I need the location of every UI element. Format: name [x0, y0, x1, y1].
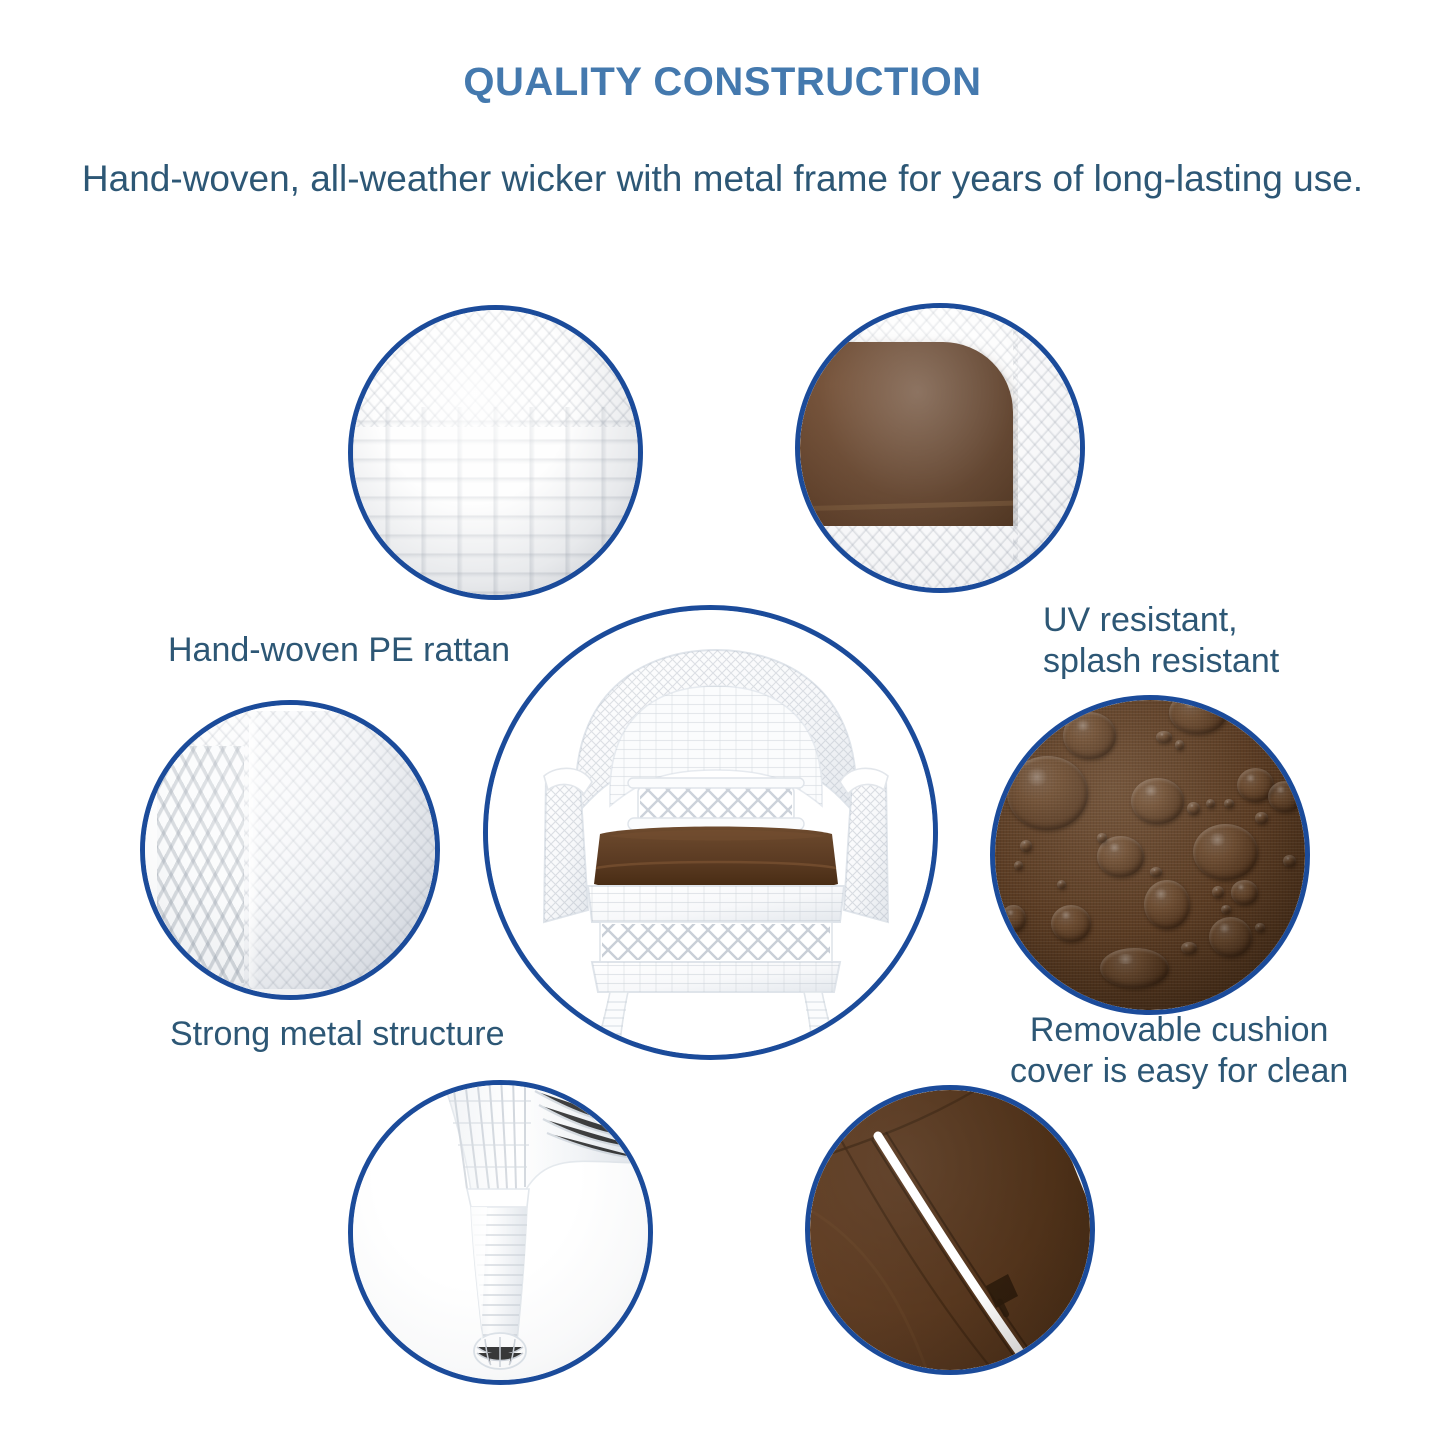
infographic-canvas: QUALITY CONSTRUCTION Hand-woven, all-wea… — [0, 0, 1445, 1445]
bubble-brown-cushion-corner — [795, 303, 1085, 593]
bubble-chair-leg — [348, 1080, 653, 1385]
brown-cushion-image — [800, 308, 1080, 588]
caption-uv-splash-resistant: UV resistant, splash resistant — [1043, 600, 1279, 683]
bubble-wicker-weave-closeup — [348, 305, 643, 600]
bubble-cushion-zipper — [805, 1085, 1095, 1375]
caption-removable-cushion-cover: Removable cushion cover is easy for clea… — [1010, 1010, 1348, 1093]
wicker-chair-illustration — [488, 610, 933, 1055]
water-droplets-image — [995, 700, 1305, 1010]
bubble-full-chair — [483, 605, 938, 1060]
chair-leg-image — [353, 1085, 648, 1380]
caption-hand-woven-pe-rattan: Hand-woven PE rattan — [168, 630, 510, 671]
bubble-wicker-armrest-corner — [140, 700, 440, 1000]
caption-strong-metal-structure: Strong metal structure — [170, 1014, 504, 1055]
wicker-weave-image — [353, 310, 638, 595]
armrest-corner-image — [145, 705, 435, 995]
cushion-zipper-image — [810, 1090, 1090, 1370]
page-subtitle: Hand-woven, all-weather wicker with meta… — [0, 158, 1445, 200]
bubble-water-droplets — [990, 695, 1310, 1015]
page-title: QUALITY CONSTRUCTION — [0, 60, 1445, 105]
full-chair-image — [488, 610, 933, 1055]
